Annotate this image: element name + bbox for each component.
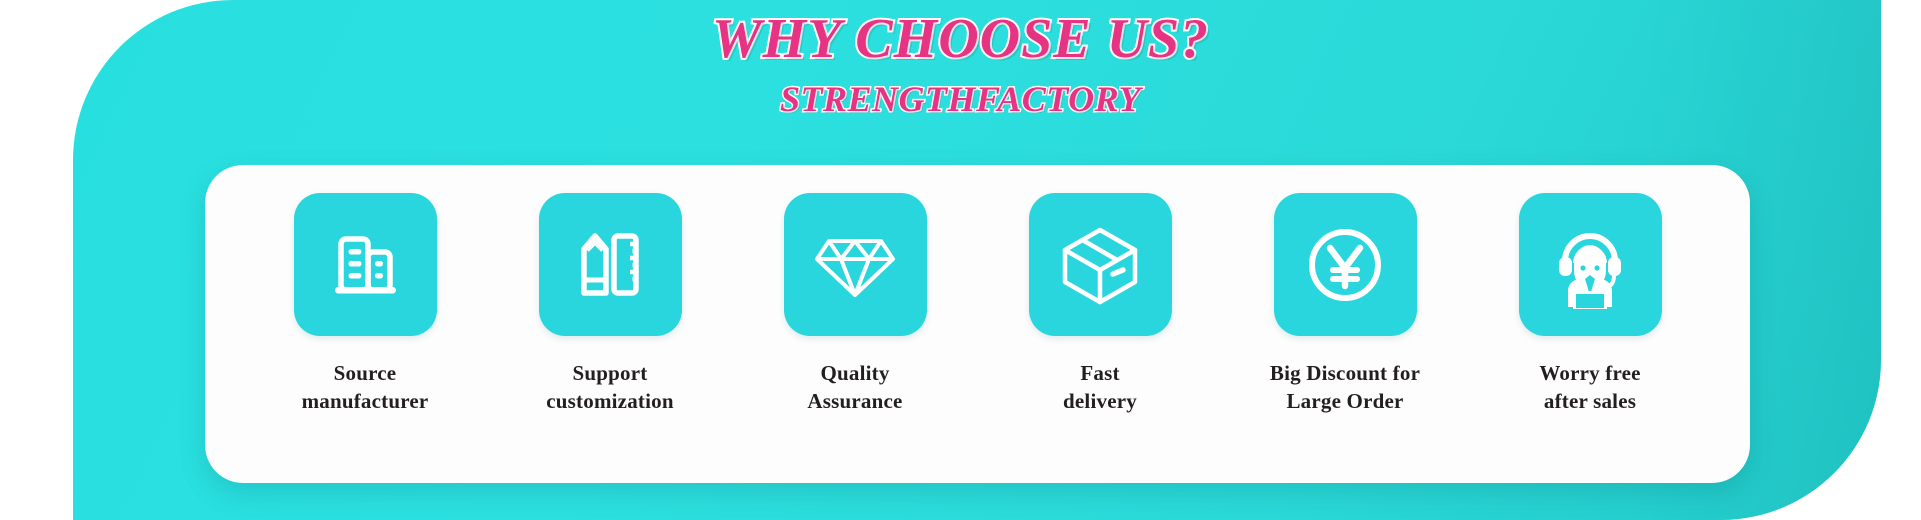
feature-label: Big Discount for Large Order	[1270, 360, 1420, 415]
yen-coin-icon	[1302, 222, 1388, 308]
feature-fast-delivery[interactable]: Fast delivery	[978, 193, 1223, 415]
feature-source-manufacturer[interactable]: Source manufacturer	[243, 193, 488, 415]
features-list: Source manufacturer	[205, 165, 1750, 483]
page-subtitle: STRENGTHFACTORY	[0, 81, 1921, 119]
feature-support-customization[interactable]: Support customization	[488, 193, 733, 415]
pencil-ruler-icon	[568, 223, 652, 307]
why-choose-us-banner: WHY CHOOSE US? STRENGTHFACTORY	[0, 0, 1921, 520]
customer-service-agent-icon	[1546, 221, 1634, 309]
banner-headings: WHY CHOOSE US? STRENGTHFACTORY	[0, 10, 1921, 119]
feature-quality-assurance[interactable]: Quality Assurance	[733, 193, 978, 415]
package-box-icon	[1057, 222, 1143, 308]
diamond-icon	[811, 221, 899, 309]
feature-label: Source manufacturer	[302, 360, 429, 415]
factory-building-icon	[323, 223, 407, 307]
feature-worry-free-after-sales[interactable]: Worry free after sales	[1468, 193, 1713, 415]
feature-label: Quality Assurance	[807, 360, 902, 415]
icon-tile-fast-delivery[interactable]	[1029, 193, 1172, 336]
icon-tile-support-customization[interactable]	[539, 193, 682, 336]
icon-tile-source-manufacturer[interactable]	[294, 193, 437, 336]
feature-label: Support customization	[546, 360, 673, 415]
icon-tile-worry-free-after-sales[interactable]	[1519, 193, 1662, 336]
icon-tile-big-discount[interactable]	[1274, 193, 1417, 336]
page-title: WHY CHOOSE US?	[0, 10, 1921, 69]
feature-big-discount[interactable]: Big Discount for Large Order	[1223, 193, 1468, 415]
feature-label: Worry free after sales	[1539, 360, 1640, 415]
feature-label: Fast delivery	[1063, 360, 1137, 415]
features-card: Source manufacturer	[205, 165, 1750, 483]
icon-tile-quality-assurance[interactable]	[784, 193, 927, 336]
